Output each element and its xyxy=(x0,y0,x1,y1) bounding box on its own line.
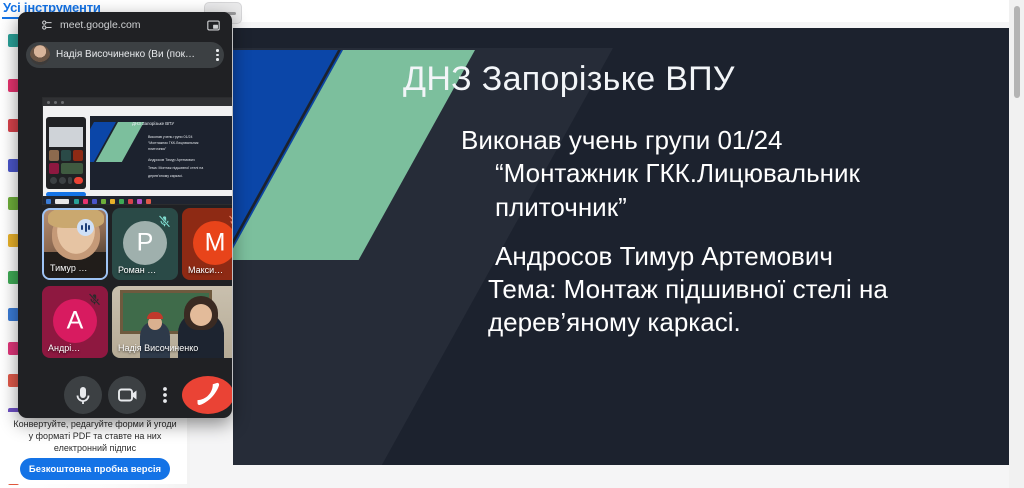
slide-line-3: плиточник” xyxy=(495,191,1023,224)
preview-nested-share xyxy=(49,127,83,147)
end-call-button[interactable] xyxy=(182,376,232,414)
presenter-name: Надія Височиненко (Ви (пок… xyxy=(56,49,206,60)
video-hair xyxy=(48,208,104,228)
meet-control-bar xyxy=(42,372,232,418)
free-trial-button[interactable]: Безкоштовна пробна версія xyxy=(20,458,170,480)
preview-slide-line-6: дерев’яному каркасі. xyxy=(148,174,183,178)
preview-taskbar xyxy=(43,196,232,205)
participant-name: Макси… xyxy=(188,265,223,275)
mic-muted-icon xyxy=(227,214,232,229)
participant-tile-roman[interactable]: Р Роман … xyxy=(112,208,178,280)
google-meet-window[interactable]: meet.google.com Надія Височиненко (Ви (п… xyxy=(18,12,232,418)
preview-slide-line-1: Виконав учень групи 01/24 xyxy=(148,135,192,139)
kebab-menu-icon[interactable] xyxy=(209,47,225,63)
avatar-initial: М xyxy=(205,228,226,257)
slide-line-4: Андросов Тимур Артемович xyxy=(495,240,1023,273)
scrollbar-thumb[interactable] xyxy=(1014,6,1020,98)
screen-root: Усі інструменти По… ДНЗ Запорізьке ВПУ xyxy=(0,0,1024,488)
site-info-icon[interactable] xyxy=(41,19,54,32)
participant-name: Андрі… xyxy=(48,343,80,353)
video-person-front-face xyxy=(190,304,212,326)
meet-window-header: meet.google.com xyxy=(18,12,232,38)
preview-slide-line-4: Андросов Тимур Артемович xyxy=(148,158,195,162)
preview-slide-line-2: “Монтажник ГКК.Лицювальник xyxy=(148,141,198,145)
screen-share-preview[interactable]: ДНЗ Запорізьке ВПУ Виконав учень групи 0… xyxy=(42,97,232,205)
slide-line-6: дерев’яному каркасі. xyxy=(488,306,1023,339)
mic-muted-icon xyxy=(157,214,172,229)
video-person-back-cap xyxy=(147,312,163,319)
shared-slide: ДНЗ Запорізьке ВПУ Виконав учень групи 0… xyxy=(233,28,1023,465)
more-options-button[interactable] xyxy=(152,376,178,414)
participant-tile-maksym[interactable]: М Макси… xyxy=(182,208,232,280)
participant-tile-timur[interactable]: Тимур … xyxy=(42,208,108,280)
preview-slide: ДНЗ Запорізьке ВПУ Виконав учень групи 0… xyxy=(90,116,232,190)
preview-slide-title: ДНЗ Запорізьке ВПУ xyxy=(132,121,174,126)
participant-name: Надія Височиненко xyxy=(118,343,198,353)
meet-url-label: meet.google.com xyxy=(60,19,141,31)
avatar-initial: Р xyxy=(137,228,154,257)
presenter-chip[interactable]: Надія Височиненко (Ви (пок… xyxy=(26,42,224,68)
preview-page-body: ДНЗ Запорізьке ВПУ Виконав учень групи 0… xyxy=(43,106,232,196)
preview-slide-line-3: плиточник” xyxy=(148,147,166,151)
preview-chrome-bar xyxy=(43,98,232,106)
slide-line-2: “Монтажник ГКК.Лицювальник xyxy=(495,157,1023,190)
mic-muted-icon xyxy=(87,292,102,307)
avatar-initial: А xyxy=(67,306,84,335)
slide-line-1: Виконав учень групи 01/24 xyxy=(461,124,1023,157)
preview-slide-line-5: Тема: Монтаж підшивної стелі на xyxy=(148,166,203,170)
preview-nested-meet-window xyxy=(46,117,86,189)
picture-in-picture-icon[interactable] xyxy=(207,19,220,32)
participant-name: Роман … xyxy=(118,265,156,275)
microphone-button[interactable] xyxy=(64,376,102,414)
slide-body: Виконав учень групи 01/24 “Монтажник ГКК… xyxy=(233,124,1023,340)
pdf-promo-card: Конвертуйте, редагуйте форми й угоди у ф… xyxy=(2,412,187,484)
participant-tile-andrii[interactable]: А Андрі… xyxy=(42,286,108,358)
participant-tile-nadia[interactable]: Надія Височиненко xyxy=(112,286,232,358)
slide-line-5: Тема: Монтаж підшивної стелі на xyxy=(488,273,1023,306)
slide-title: ДНЗ Запорізьке ВПУ xyxy=(403,60,1003,99)
camera-button[interactable] xyxy=(108,376,146,414)
speaking-indicator-icon xyxy=(77,219,94,236)
avatar xyxy=(30,45,50,65)
participant-name: Тимур … xyxy=(50,263,87,273)
page-scrollbar[interactable] xyxy=(1009,0,1024,488)
promo-description: Конвертуйте, редагуйте форми й угоди у ф… xyxy=(10,418,180,454)
